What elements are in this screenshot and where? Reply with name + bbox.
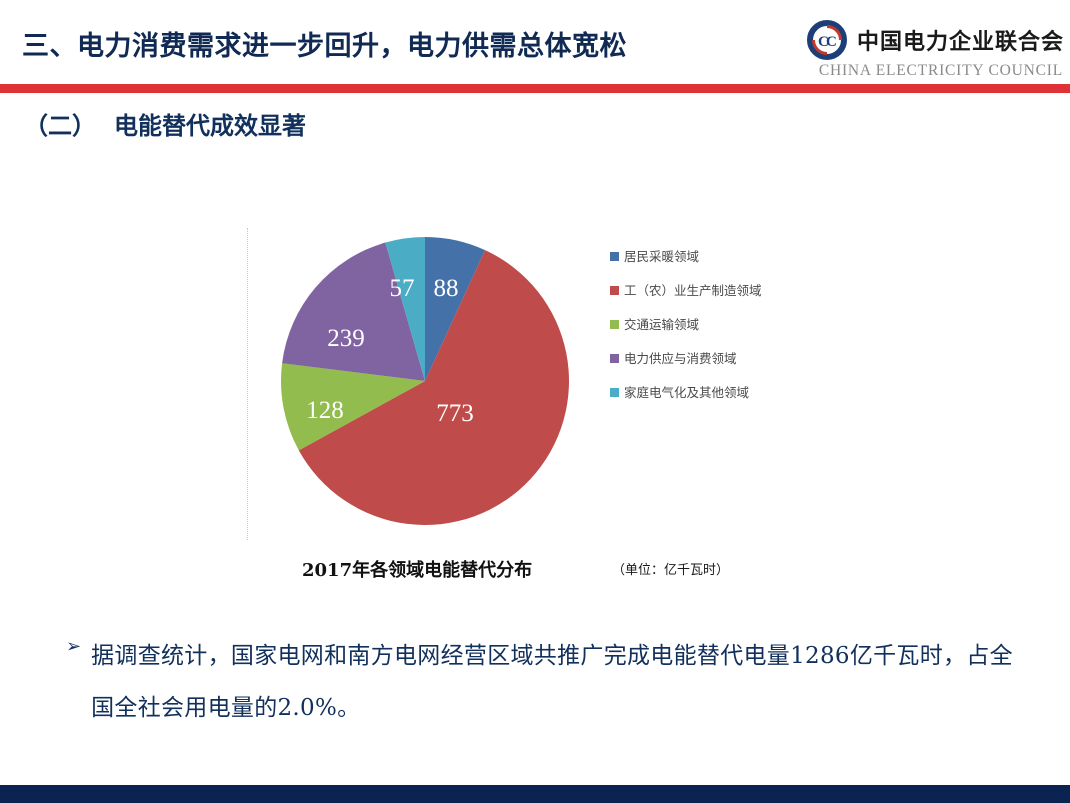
legend-label: 电力供应与消费领域 [624,350,737,367]
pie-chart: 8877312823957 居民采暖领域工（农）业生产制造领域交通运输领域电力供… [247,228,787,540]
cec-circular-emblem-icon: C C [807,20,847,60]
bullet-text: 据调查统计，国家电网和南方电网经营区域共推广完成电能替代电量1286亿千瓦时，占… [91,630,1016,734]
legend-swatch-icon [610,388,619,397]
pie-slice-value-label: 88 [434,275,459,302]
legend-label: 工（农）业生产制造领域 [624,282,762,299]
legend-swatch-icon [610,354,619,363]
pie-slice-value-label: 57 [390,275,415,302]
pie-slice-value-label: 128 [306,397,344,424]
page-title: 三、电力消费需求进一步回升，电力供需总体宽松 [22,24,627,63]
legend-item: 交通运输领域 [610,316,785,333]
legend-label: 居民采暖领域 [624,248,699,265]
pie-graphic: 8877312823957 [280,236,570,526]
legend-item: 家庭电气化及其他领域 [610,384,785,401]
chart-unit-label: （单位：亿千瓦时） [612,559,729,578]
pie-slice-value-label: 773 [436,400,474,427]
pie-slice-value-label: 239 [327,325,365,352]
section-heading: （二）电能替代成效显著 [24,106,306,141]
legend-swatch-icon [610,252,619,261]
legend-item: 居民采暖领域 [610,248,785,265]
footer-bar [0,785,1070,803]
svg-text:C: C [826,34,837,50]
slide-root: 三、电力消费需求进一步回升，电力供需总体宽松 C C 中国电力企业联合会 CHI… [0,0,1070,803]
section-title: 电能替代成效显著 [114,112,306,140]
logo-row: C C 中国电力企业联合会 [807,20,1064,60]
legend-swatch-icon [610,286,619,295]
section-number: （二） [24,112,96,140]
legend-item: 工（农）业生产制造领域 [610,282,785,299]
legend-item: 电力供应与消费领域 [610,350,785,367]
plot-area-left-border [247,228,248,540]
legend-swatch-icon [610,320,619,329]
chart-caption: 2017年各领域电能替代分布 [302,556,532,582]
bullet-arrow-icon: ➢ [66,630,81,664]
logo-name-cn: 中国电力企业联合会 [857,24,1064,56]
cec-logo: C C 中国电力企业联合会 CHINA ELECTRICITY COUNCIL [807,20,1064,80]
logo-name-en: CHINA ELECTRICITY COUNCIL [819,62,1063,80]
bullet-paragraph: ➢ 据调查统计，国家电网和南方电网经营区域共推广完成电能替代电量1286亿千瓦时… [66,630,1016,734]
legend-label: 交通运输领域 [624,316,699,333]
header-divider [0,84,1070,93]
chart-legend: 居民采暖领域工（农）业生产制造领域交通运输领域电力供应与消费领域家庭电气化及其他… [610,248,785,418]
legend-label: 家庭电气化及其他领域 [624,384,749,401]
